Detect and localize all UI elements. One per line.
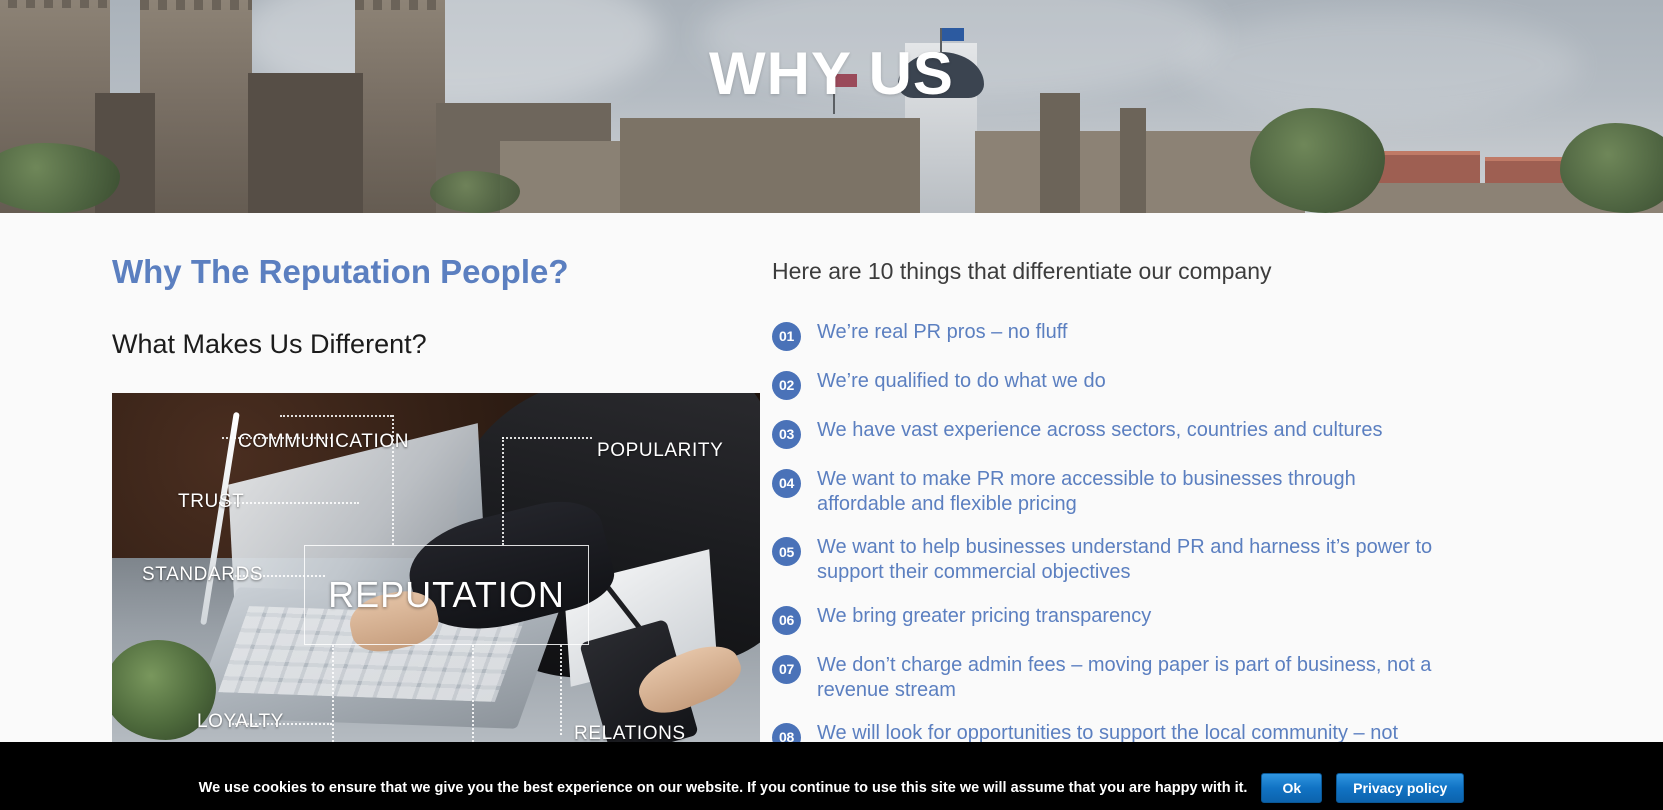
item-text: We want to make PR more accessible to bu… bbox=[817, 467, 1439, 517]
right-column: Here are 10 things that differentiate ou… bbox=[700, 213, 1560, 770]
item-number-badge: 04 bbox=[772, 469, 801, 498]
main-content: Why The Reputation People? What Makes Us… bbox=[0, 213, 1663, 810]
label-standards: STANDARDS bbox=[142, 564, 263, 586]
item-text: We’re real PR pros – no fluff bbox=[817, 320, 1068, 345]
item-number-badge: 06 bbox=[772, 606, 801, 635]
cookie-message: We use cookies to ensure that we give yo… bbox=[199, 780, 1248, 796]
label-popularity: POPULARITY bbox=[597, 440, 723, 462]
item-text: We have vast experience across sectors, … bbox=[817, 418, 1382, 443]
tree bbox=[1250, 108, 1385, 213]
connector-line bbox=[502, 437, 504, 545]
item-number-badge: 07 bbox=[772, 655, 801, 684]
tree bbox=[430, 171, 520, 213]
connector-line bbox=[502, 437, 592, 439]
list-intro-text: Here are 10 things that differentiate ou… bbox=[772, 257, 1560, 286]
item-number-badge: 02 bbox=[772, 371, 801, 400]
label-loyalty: LOYALTY bbox=[197, 711, 284, 733]
item-text: We want to help businesses understand PR… bbox=[817, 535, 1439, 585]
item-text: We’re qualified to do what we do bbox=[817, 369, 1106, 394]
privacy-policy-button[interactable]: Privacy policy bbox=[1336, 773, 1464, 804]
list-item: 07 We don’t charge admin fees – moving p… bbox=[772, 653, 1560, 703]
left-column: Why The Reputation People? What Makes Us… bbox=[0, 213, 700, 770]
differentiators-list: 01 We’re real PR pros – no fluff 02 We’r… bbox=[772, 320, 1560, 752]
item-number-badge: 01 bbox=[772, 322, 801, 351]
castle-frontage bbox=[620, 118, 920, 213]
cookie-accept-button[interactable]: Ok bbox=[1261, 773, 1322, 804]
hero-banner: WHY US bbox=[0, 0, 1663, 213]
chimney-stack bbox=[1120, 108, 1146, 213]
item-text: We bring greater pricing transparency bbox=[817, 604, 1151, 629]
list-item: 06 We bring greater pricing transparency bbox=[772, 604, 1560, 635]
connector-line bbox=[560, 645, 562, 735]
section-heading: Why The Reputation People? bbox=[112, 252, 700, 292]
list-item: 05 We want to help businesses understand… bbox=[772, 535, 1560, 585]
crenellation bbox=[355, 0, 445, 10]
page-title: WHY US bbox=[0, 44, 1663, 104]
item-number-badge: 03 bbox=[772, 420, 801, 449]
item-number-badge: 05 bbox=[772, 537, 801, 566]
crenellation bbox=[0, 0, 110, 8]
item-text: We don’t charge admin fees – moving pape… bbox=[817, 653, 1439, 703]
list-item: 04 We want to make PR more accessible to… bbox=[772, 467, 1560, 517]
label-trust: TRUST bbox=[178, 491, 244, 513]
chimney-stack bbox=[1040, 93, 1080, 213]
crenellation bbox=[140, 0, 252, 10]
connector-line bbox=[332, 645, 334, 748]
list-item: 03 We have vast experience across sector… bbox=[772, 418, 1560, 449]
castle-spire bbox=[355, 0, 445, 213]
connector-line bbox=[280, 415, 392, 417]
connector-line bbox=[472, 645, 474, 748]
reputation-center-label: REPUTATION bbox=[304, 545, 589, 645]
label-communication: COMMUNICATION bbox=[238, 431, 409, 453]
cookie-consent-banner: We use cookies to ensure that we give yo… bbox=[0, 742, 1663, 810]
reputation-diagram-image: REPUTATION COMMUNICATION POPULARITY TRUS… bbox=[112, 393, 760, 748]
list-item: 01 We’re real PR pros – no fluff bbox=[772, 320, 1560, 351]
castle-tower bbox=[140, 0, 252, 213]
section-subheading: What Makes Us Different? bbox=[112, 328, 700, 360]
list-item: 02 We’re qualified to do what we do bbox=[772, 369, 1560, 400]
